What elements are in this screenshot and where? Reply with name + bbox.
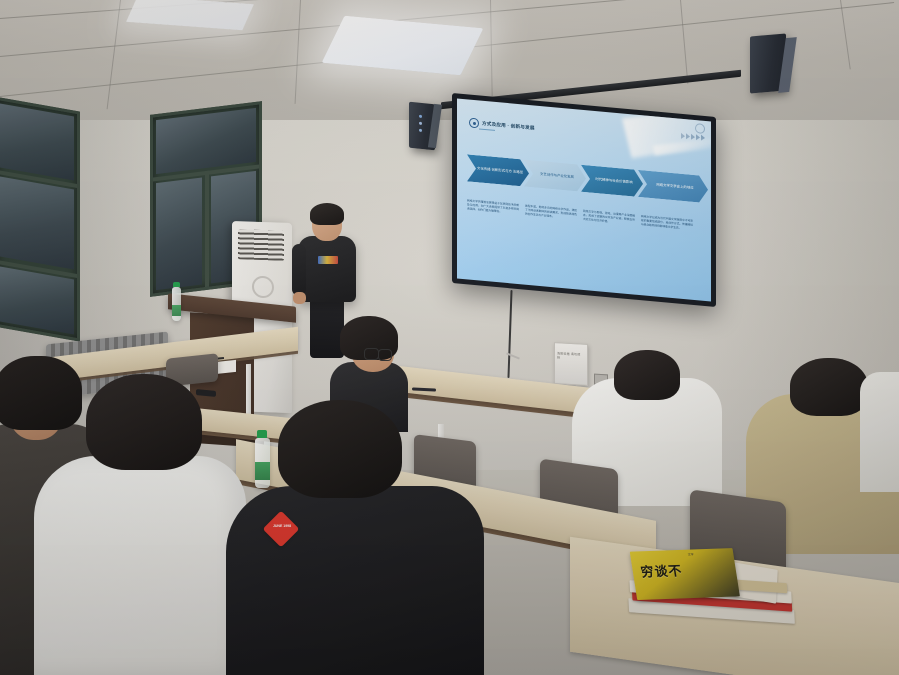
audience-white-shirt-hair [614,350,680,400]
bottle-cap [173,282,180,287]
presenter-hair [310,203,344,225]
slide-paragraph: 网络文学已成为当代中国文学版图中不可忽视的重要组成部分，其创作方式、传播路径与受… [641,215,693,231]
bottle-label [255,462,270,480]
presentation-display[interactable]: 方式及应用 · 创新与发展 文化传播 创新形式与方 法路径 文艺创作与产业化发展… [452,93,716,307]
chevron-step-label: 网络文学文学史上的地位 [656,183,693,191]
audience-khaki-shirt-hair [790,358,868,416]
book-stack[interactable]: 文学 穷谈不 [622,550,802,649]
chevron-step: 文艺创作与产业化发展 [524,160,586,193]
audience-white-tee-body [34,456,246,675]
bottle-label [172,305,181,316]
audience-hoodie-hair [278,400,402,498]
chevron-step: 时代精神与社会价值影响 [581,165,643,198]
slide-paragraph-text: 类型丰富、题材多元的网络文学作品，满足了不同读者群体的阅读需求，形成独具特色的创… [525,205,577,221]
slide-title-underline [479,128,495,130]
air-conditioner-grille [238,229,284,261]
classroom-presentation-photo: 消防设施 请勿遮挡 方式及应用 · 创新与发展 文化传播 创新形式与方 法路径 [0,0,899,675]
slide-paragraph-text: 网络文学已成为当代中国文学版图中不可忽视的重要组成部分，其创作方式、传播路径与受… [641,215,693,231]
chevron-step-label: 文艺创作与产业化发展 [540,172,574,179]
chevron-step: 文化传播 创新形式与方 法路径 [467,154,529,187]
air-conditioner-dial[interactable] [252,276,274,299]
wall-control-box [554,342,588,386]
tshirt-graphic [318,256,338,264]
eyeglasses-lens-right [378,349,392,361]
bottle-cap [257,430,267,438]
slide-paragraph-text: 网络文学的蓬勃发展得益于互联网技术的普及与应用，为广大读者提供了丰富多样的阅读选… [467,199,519,215]
slide-paragraph-text: 网络文学与影视、游戏、动漫等产业深度融合，形成了完整的IP开发产业链，释放出巨大… [583,210,635,226]
presenter-hand [293,292,306,304]
book-subtitle: 文学 [687,552,694,556]
wall-box-label: 消防设施 请勿遮挡 [557,351,583,360]
chevron-step: 网络文学文学史上的地位 [638,170,708,203]
eyeglasses-lens-left [364,348,379,360]
chevron-step-label: 文化传播 创新形式与方 法路径 [477,167,523,176]
window-left [0,96,80,341]
slide-bullet-icon [469,118,479,129]
presenter-legs [310,298,344,358]
slide-title-row: 方式及应用 · 创新与发展 [469,118,535,134]
slide-paragraphs: 网络文学的蓬勃发展得益于互联网技术的普及与应用，为广大读者提供了丰富多样的阅读选… [467,199,693,231]
audience-white-tee-hair [86,374,202,470]
audience-hoodie-body [226,486,484,675]
shoulder-patch-label: JUNE 1998 [272,524,292,528]
slide-paragraph: 网络文学的蓬勃发展得益于互联网技术的普及与应用，为广大读者提供了丰富多样的阅读选… [467,199,519,215]
chevron-step-label: 时代精神与社会价值影响 [595,177,632,185]
book-title: 穷谈不 [639,560,683,581]
audience-right-edge-body [860,372,899,492]
slide-paragraph: 类型丰富、题材多元的网络文学作品，满足了不同读者群体的阅读需求，形成独具特色的创… [525,205,577,221]
slide-process-chevrons: 文化传播 创新形式与方 法路径 文艺创作与产业化发展 时代精神与社会价值影响 网… [467,154,703,202]
book-top-cover: 文学 穷谈不 [630,548,740,600]
presenter-torso [298,236,356,302]
presenter-arm [292,244,306,296]
water-bottle[interactable] [172,287,181,321]
slide-paragraph: 网络文学与影视、游戏、动漫等产业深度融合，形成了完整的IP开发产业链，释放出巨大… [583,210,635,226]
audience-dark-tee-hair [0,356,82,430]
slide-screen: 方式及应用 · 创新与发展 文化传播 创新形式与方 法路径 文艺创作与产业化发展… [457,98,711,301]
